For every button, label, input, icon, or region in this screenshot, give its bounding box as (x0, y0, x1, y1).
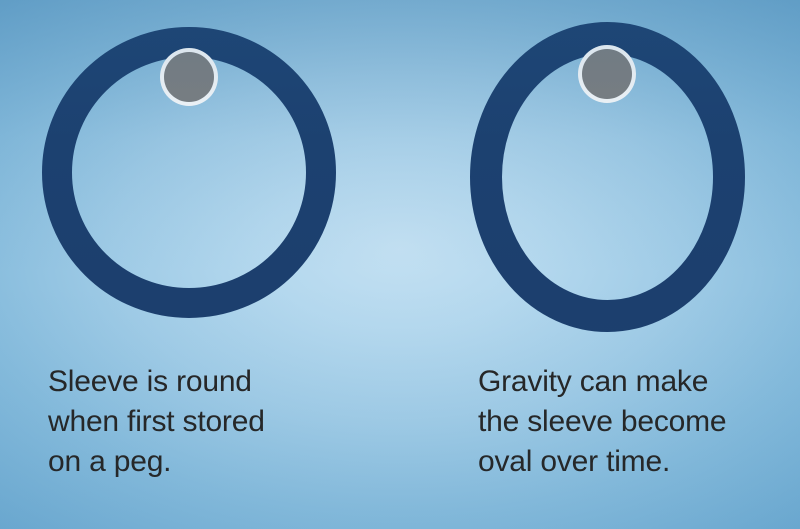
sleeve-ring-round-graphic (42, 27, 336, 318)
infographic-canvas: Sleeve is round when first stored on a p… (0, 0, 800, 529)
caption-round-sleeve: Sleeve is round when first stored on a p… (48, 362, 378, 482)
sleeve-ring-round-figure (42, 27, 336, 318)
panel-round-sleeve: Sleeve is round when first stored on a p… (0, 0, 400, 529)
sleeve-ring-oval-graphic (470, 22, 745, 332)
peg-dot (582, 49, 632, 99)
sleeve-ring-oval-figure (470, 22, 745, 332)
panel-oval-sleeve: Gravity can make the sleeve become oval … (400, 0, 800, 529)
caption-oval-sleeve: Gravity can make the sleeve become oval … (478, 362, 800, 482)
peg-dot (164, 52, 214, 102)
